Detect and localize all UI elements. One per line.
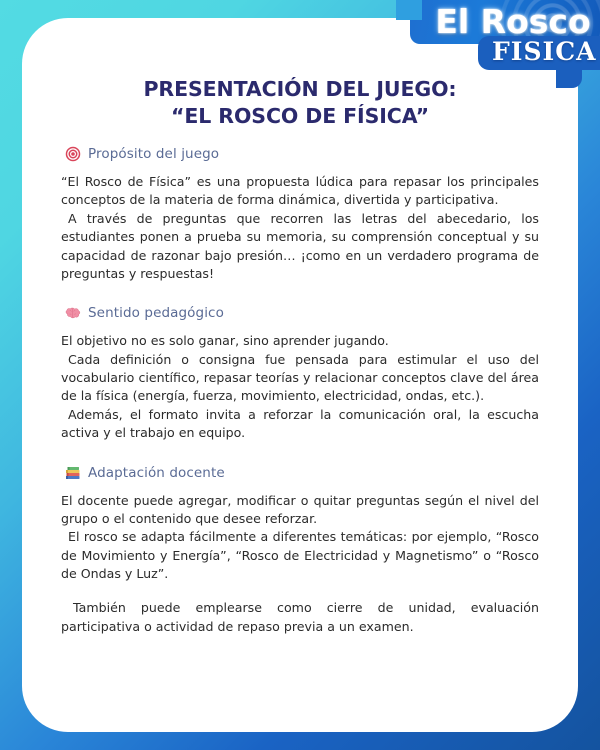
section-sentido-pedagogico: Sentido pedagógico El objetivo no es sol… <box>60 305 540 442</box>
target-icon <box>65 146 81 162</box>
section-adaptacion-docente: Adaptación docente El docente puede agre… <box>60 465 540 637</box>
brand-logo-text: El Rosco <box>427 5 590 38</box>
poster-page: El Rosco FISICA PRESENTACIÓN DEL JUEGO: … <box>0 0 600 750</box>
section-title: Adaptación docente <box>88 465 225 481</box>
section-proposito: Propósito del juego “El Rosco de Física”… <box>60 146 540 283</box>
section-header: Propósito del juego <box>60 146 540 162</box>
paragraph: El objetivo no es solo ganar, sino apren… <box>61 332 539 350</box>
page-title: PRESENTACIÓN DEL JUEGO: “EL ROSCO DE FÍS… <box>60 76 540 130</box>
section-body: El docente puede agregar, modificar o qu… <box>60 492 540 637</box>
section-header: Adaptación docente <box>60 465 540 481</box>
section-header: Sentido pedagógico <box>60 305 540 321</box>
paragraph: El docente puede agregar, modificar o qu… <box>61 492 539 529</box>
content-card: PRESENTACIÓN DEL JUEGO: “EL ROSCO DE FÍS… <box>22 18 578 732</box>
brain-icon <box>65 305 81 321</box>
section-title: Propósito del juego <box>88 146 219 162</box>
page-title-line-1: PRESENTACIÓN DEL JUEGO: <box>60 76 540 103</box>
paragraph: El rosco se adapta fácilmente a diferent… <box>61 528 539 583</box>
page-title-line-2: “EL ROSCO DE FÍSICA” <box>60 103 540 130</box>
books-icon <box>65 465 81 481</box>
section-body: “El Rosco de Física” es una propuesta lú… <box>60 173 540 283</box>
paragraph: Además, el formato invita a reforzar la … <box>61 406 539 443</box>
section-body: El objetivo no es solo ganar, sino apren… <box>60 332 540 442</box>
paragraph: A través de preguntas que recorren las l… <box>61 210 539 284</box>
paragraph: “El Rosco de Física” es una propuesta lú… <box>61 173 539 210</box>
subject-badge: FISICA <box>478 36 600 70</box>
paragraph: Cada definición o consigna fue pensada p… <box>61 351 539 406</box>
section-title: Sentido pedagógico <box>88 305 224 321</box>
paragraph: También puede emplearse como cierre de u… <box>61 599 539 636</box>
